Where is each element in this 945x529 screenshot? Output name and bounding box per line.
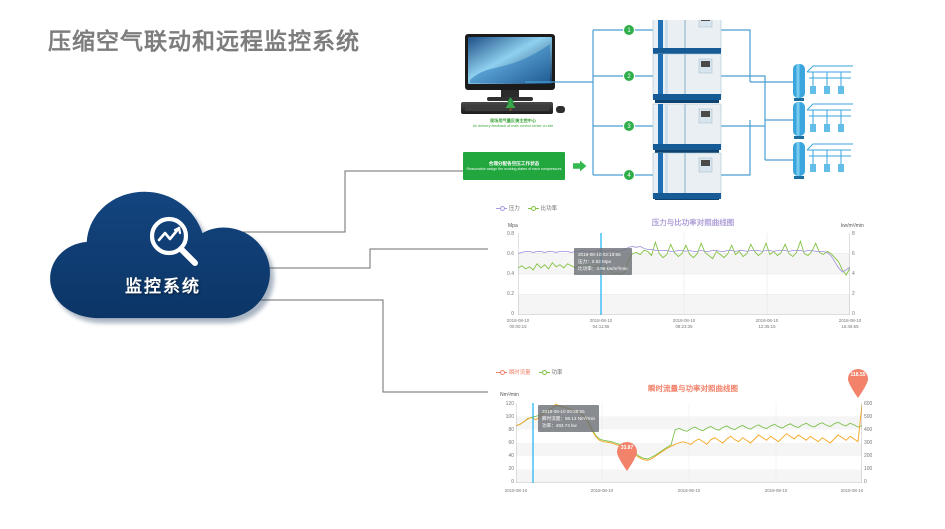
chart2-tooltip-row: 功率：493.74 kw — [542, 422, 595, 429]
chart2-tooltip: 2018-08-10 00:38:55 瞬时流量：98.13 Nm³/min 功… — [538, 405, 599, 432]
cloud-label: 监控系统 — [38, 272, 288, 297]
chart2-y2tick: 600 — [864, 401, 872, 407]
xtick-date: 2018-08-10 — [492, 488, 540, 494]
pressure-vs-specific-power-chart: 压力 比功率 压力与比功率对照曲线图 Mpa kw/m³/min 0.8 0.6… — [488, 200, 888, 335]
chart1-y2label: kw/m³/min — [841, 223, 864, 229]
chart2-title: 瞬时流量与功率对照曲线图 — [598, 383, 788, 394]
xtick-date: 2018-08-10 — [828, 488, 876, 494]
chart2-xtick: 2018-08-10 — [828, 488, 876, 494]
xtick-time: 04:11:55 — [577, 324, 625, 330]
max-marker-label: 118.55 — [850, 372, 865, 378]
chart2-y2tick: 100 — [864, 466, 872, 472]
xtick-date: 2018-08-10 — [752, 488, 800, 494]
legend-marker-icon — [539, 369, 550, 375]
legend-item-pressure[interactable]: 压力 — [496, 204, 520, 212]
legend-label: 比功率 — [541, 204, 557, 212]
chart2-y2tick: 400 — [864, 427, 872, 433]
chart2-tooltip-row: 瞬时流量：98.13 Nm³/min — [542, 415, 595, 422]
chart1-y2tick: 2 — [852, 291, 855, 297]
legend-marker-icon — [528, 205, 539, 211]
chart1-tooltip-timestamp: 2018-08-10 02:19:55 — [578, 251, 628, 258]
min-marker: 33.87 — [615, 441, 639, 471]
chart2-ytick: 60 — [490, 440, 514, 446]
chart1-xtick: 2018-08-10 16:46:55 — [826, 318, 874, 330]
legend-marker-icon — [496, 205, 507, 211]
chart1-y2tick: 6 — [852, 251, 855, 257]
legend-label: 功率 — [552, 368, 563, 376]
chart1-tooltip-row: 压力：0.63 Mpa — [578, 258, 628, 265]
xtick-date: 2018-08-10 — [665, 488, 713, 494]
legend-item-specific-power[interactable]: 比功率 — [528, 204, 557, 212]
chart2-xtick: 2018-08-10 — [752, 488, 800, 494]
chart2-ytick: 0 — [490, 479, 514, 485]
chart1-ytick: 0.4 — [492, 271, 514, 277]
legend-label: 压力 — [509, 204, 520, 212]
chart1-ytick: 0.2 — [492, 291, 514, 297]
chart2-xtick: 2018-08-10 — [665, 488, 713, 494]
chart1-xtick: 2018-08-10 04:11:55 — [577, 318, 625, 330]
xtick-time: 00:00:15 — [494, 324, 542, 330]
chart2-ytick: 40 — [490, 453, 514, 459]
chart1-y2tick: 8 — [852, 231, 855, 237]
legend-marker-icon — [496, 369, 507, 375]
chart2-ytick: 100 — [490, 414, 514, 420]
chart1-xtick: 2018-08-10 08:23:35 — [660, 318, 708, 330]
min-marker-label: 33.87 — [621, 445, 634, 451]
chart1-plot-area[interactable] — [518, 233, 850, 315]
chart2-y2tick: 200 — [864, 453, 872, 459]
instant-flow-vs-power-chart: 瞬时流量 功率 瞬时流量与功率对照曲线图 Nm³/min 120 100 80 … — [488, 365, 888, 510]
chart2-xtick: 2018-08-10 — [492, 488, 540, 494]
xtick-time: 08:23:35 — [660, 324, 708, 330]
chart1-tooltip-row: 比功率：4.99 kw/m³/min — [578, 265, 628, 272]
legend-item-instant-flow[interactable]: 瞬时流量 — [496, 368, 531, 376]
chart2-ytick: 120 — [490, 401, 514, 407]
chart2-y2tick: 0 — [864, 479, 867, 485]
xtick-date: 2018-08-10 — [578, 488, 626, 494]
chart1-tooltip: 2018-08-10 02:19:55 压力：0.63 Mpa 比功率：4.99… — [574, 248, 632, 275]
piping-network: 1 2 3 4 — [525, 20, 940, 200]
chart1-ytick: 0 — [492, 311, 514, 317]
legend-label: 瞬时流量 — [509, 368, 531, 376]
chart1-legend[interactable]: 压力 比功率 — [496, 204, 557, 212]
chart2-y2tick: 500 — [864, 414, 872, 420]
legend-item-power[interactable]: 功率 — [539, 368, 563, 376]
chart2-ytick: 80 — [490, 427, 514, 433]
xtick-time: 12:35:15 — [743, 324, 791, 330]
page-title: 压缩空气联动和远程监控系统 — [48, 22, 360, 56]
chart1-xtick: 2018-08-10 00:00:15 — [494, 318, 542, 330]
chart1-y2tick: 4 — [852, 271, 855, 277]
chart2-ytick: 20 — [490, 466, 514, 472]
chart2-legend[interactable]: 瞬时流量 功率 — [496, 368, 562, 376]
xtick-time: 16:46:55 — [826, 324, 874, 330]
chart1-ytick: 0.8 — [492, 231, 514, 237]
chart2-y2tick: 300 — [864, 440, 872, 446]
chart2-ylabel: Nm³/min — [500, 392, 519, 398]
chart1-ytick: 0.6 — [492, 251, 514, 257]
monitoring-cloud[interactable]: 监控系统 — [38, 186, 288, 326]
chart2-tooltip-timestamp: 2018-08-10 00:38:55 — [542, 408, 595, 415]
chart1-xtick: 2018-08-10 12:35:15 — [743, 318, 791, 330]
chart1-y2tick: 0 — [852, 311, 855, 317]
slide-root: 压缩空气联动和远程监控系统 监控系统 — [0, 0, 945, 529]
tree-icon — [504, 96, 517, 112]
chart2-xtick: 2018-08-10 — [578, 488, 626, 494]
chart1-title: 压力与比功率对照曲线图 — [598, 217, 788, 228]
chart1-ylabel: Mpa — [508, 223, 518, 229]
max-marker: 118.55 — [846, 368, 870, 398]
magnifier-chart-icon — [142, 214, 206, 270]
